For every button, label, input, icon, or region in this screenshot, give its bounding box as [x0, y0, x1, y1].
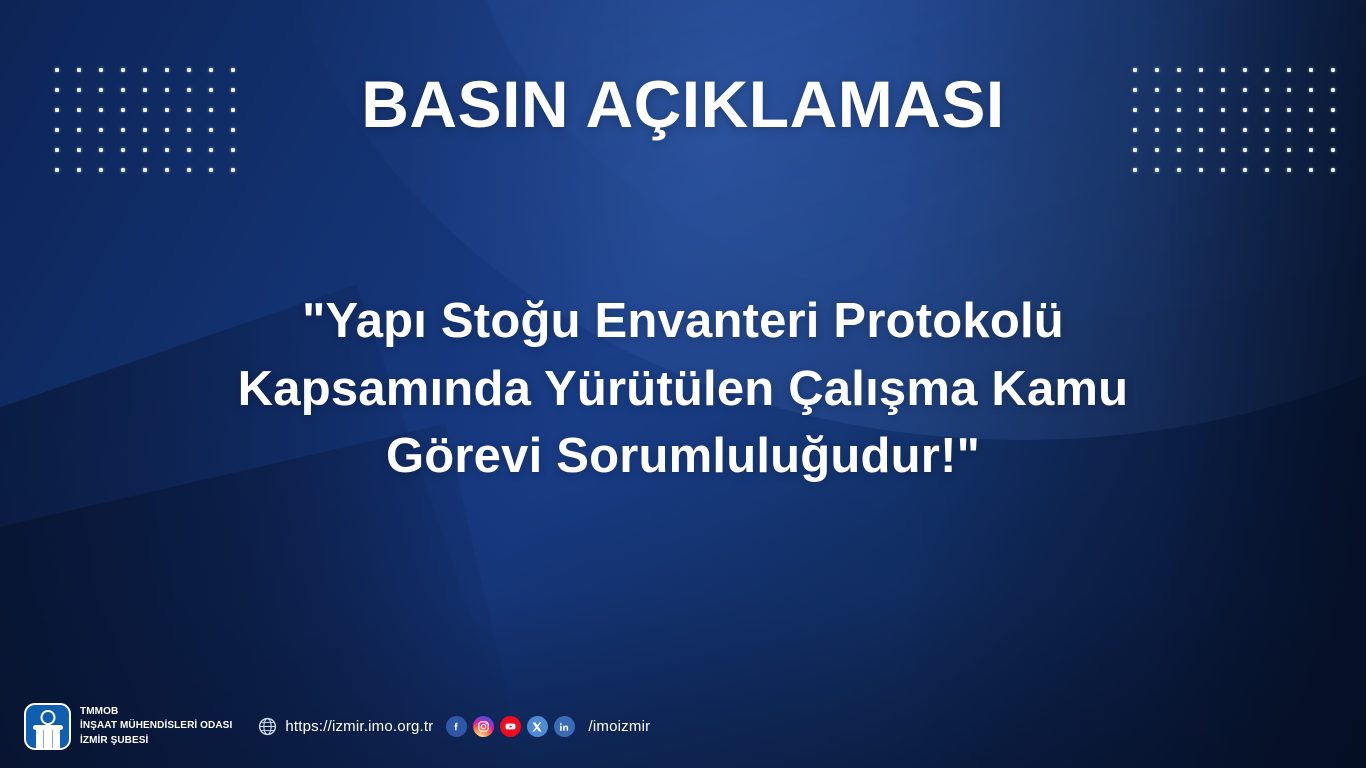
grid-dot	[1265, 148, 1269, 152]
facebook-glyph	[450, 721, 462, 733]
grid-dot	[1199, 148, 1203, 152]
grid-dot	[1243, 168, 1247, 172]
grid-dot	[143, 168, 147, 172]
grid-dot	[55, 148, 59, 152]
instagram-icon[interactable]	[473, 716, 494, 737]
statement-block: "Yapı Stoğu Envanteri Protokolü Kapsamın…	[153, 288, 1213, 491]
grid-dot	[187, 168, 191, 172]
grid-dot	[209, 168, 213, 172]
grid-dot	[1133, 148, 1137, 152]
grid-dot	[209, 148, 213, 152]
linkedin-glyph	[558, 721, 570, 733]
social-links	[446, 716, 575, 737]
grid-dot	[1177, 168, 1181, 172]
brand-line-1: TMMOB	[80, 705, 232, 720]
youtube-glyph	[504, 720, 517, 733]
headline-band: BASIN AÇIKLAMASI	[0, 70, 1366, 139]
linkedin-icon[interactable]	[554, 716, 575, 737]
grid-dot	[1221, 148, 1225, 152]
statement-text: "Yapı Stoğu Envanteri Protokolü Kapsamın…	[153, 288, 1213, 491]
grid-dot	[1243, 148, 1247, 152]
grid-dot	[1331, 168, 1335, 172]
instagram-glyph	[477, 720, 490, 733]
grid-dot	[99, 148, 103, 152]
brand-line-2: İNŞAAT MÜHENDİSLERİ ODASI	[80, 719, 232, 734]
grid-dot	[1221, 168, 1225, 172]
grid-dot	[1287, 168, 1291, 172]
brand-name: TMMOB İNŞAAT MÜHENDİSLERİ ODASI İZMİR ŞU…	[80, 705, 232, 749]
x-glyph	[531, 721, 543, 733]
facebook-icon[interactable]	[446, 716, 467, 737]
grid-dot	[1331, 148, 1335, 152]
logo-figure-body	[33, 724, 63, 749]
brand-lockup: TMMOB İNŞAAT MÜHENDİSLERİ ODASI İZMİR ŞU…	[24, 703, 232, 750]
tmmob-logo-icon	[24, 703, 71, 750]
brand-line-3: İZMİR ŞUBESİ	[80, 734, 232, 749]
grid-dot	[143, 148, 147, 152]
logo-figure-leg-left	[36, 728, 43, 749]
grid-dot	[1177, 148, 1181, 152]
grid-dot	[1287, 148, 1291, 152]
grid-dot	[55, 168, 59, 172]
press-release-slide: BASIN AÇIKLAMASI "Yapı Stoğu Envanteri P…	[0, 0, 1366, 768]
logo-figure-head	[40, 710, 55, 725]
grid-dot	[165, 168, 169, 172]
grid-dot	[187, 148, 191, 152]
grid-dot	[1155, 168, 1159, 172]
grid-dot	[1265, 168, 1269, 172]
grid-dot	[99, 168, 103, 172]
website-url[interactable]: https://izmir.imo.org.tr	[285, 718, 433, 735]
grid-dot	[77, 148, 81, 152]
social-handle: /imoizmir	[589, 718, 651, 735]
grid-dot	[1199, 168, 1203, 172]
page-title: BASIN AÇIKLAMASI	[0, 70, 1366, 139]
grid-dot	[121, 148, 125, 152]
logo-figure-leg-right	[53, 728, 60, 749]
footer-bar: TMMOB İNŞAAT MÜHENDİSLERİ ODASI İZMİR ŞU…	[24, 703, 650, 750]
youtube-icon[interactable]	[500, 716, 521, 737]
grid-dot	[1133, 168, 1137, 172]
x-twitter-icon[interactable]	[527, 716, 548, 737]
grid-dot	[231, 148, 235, 152]
globe-icon	[258, 717, 277, 736]
grid-dot	[1309, 148, 1313, 152]
grid-dot	[231, 168, 235, 172]
grid-dot	[1155, 148, 1159, 152]
grid-dot	[77, 168, 81, 172]
contact-strip: https://izmir.imo.org.tr	[258, 716, 650, 737]
grid-dot	[1309, 168, 1313, 172]
grid-dot	[165, 148, 169, 152]
grid-dot	[121, 168, 125, 172]
logo-figure-torso	[43, 724, 52, 749]
